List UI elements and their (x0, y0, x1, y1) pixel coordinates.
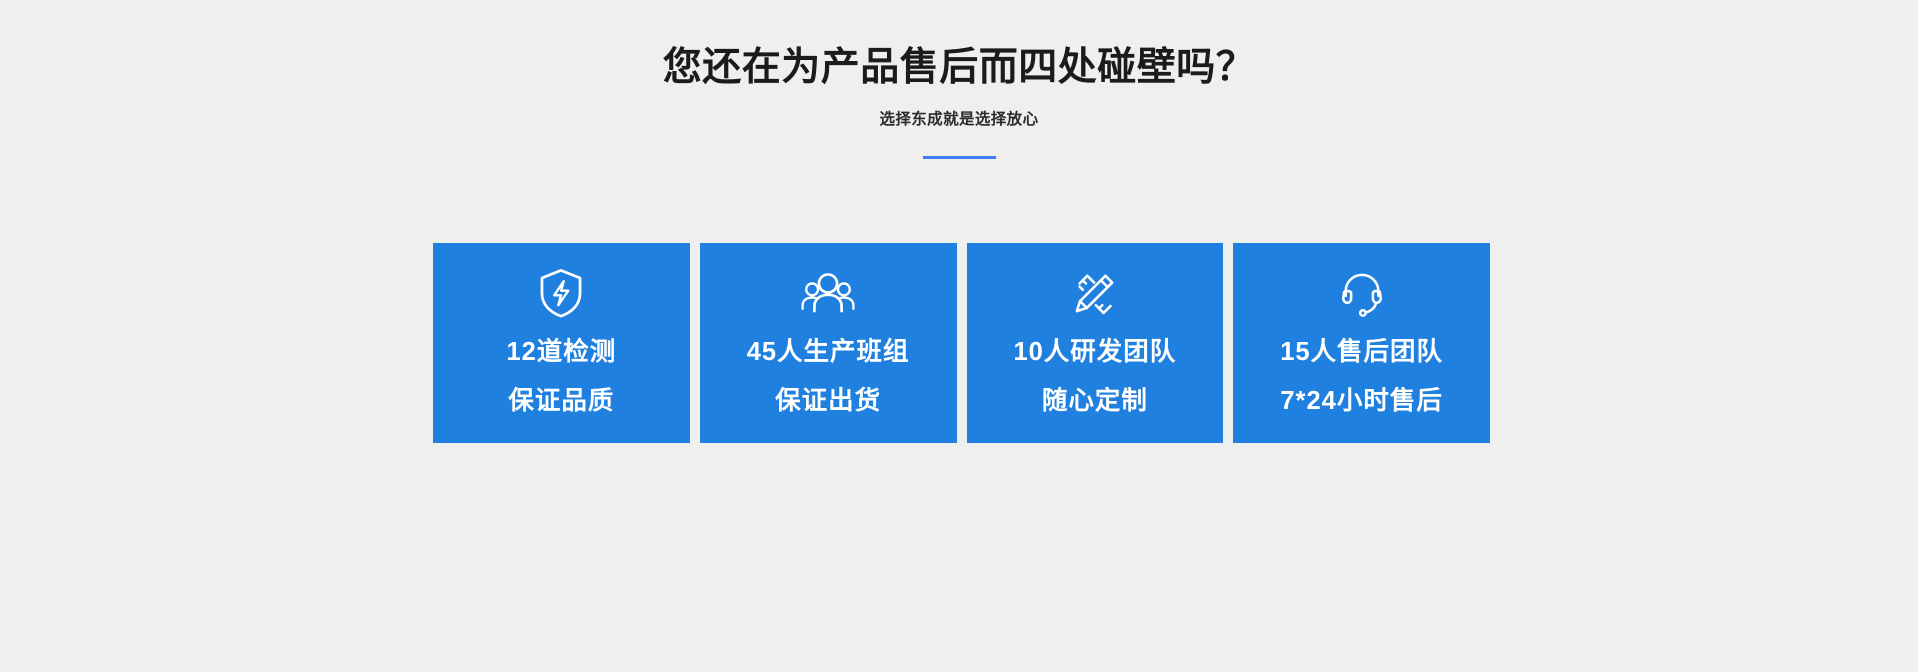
headset-icon (1333, 264, 1391, 322)
heading-block: 您还在为产品售后而四处碰壁吗？ 选择东成就是选择放心 (0, 0, 1918, 159)
feature-card-line1: 12道检测 (506, 340, 616, 366)
feature-card-line1: 10人研发团队 (1013, 340, 1176, 366)
shield-bolt-icon (532, 264, 590, 322)
pencil-ruler-icon (1066, 264, 1124, 322)
feature-card-line1: 45人生产班组 (747, 340, 910, 366)
page-subtitle: 选择东成就是选择放心 (0, 90, 1918, 130)
feature-card-line2: 保证品质 (508, 389, 614, 415)
feature-card-line2: 随心定制 (1042, 389, 1148, 415)
feature-card-rnd[interactable]: 10人研发团队 随心定制 (967, 243, 1224, 443)
feature-cards-row: 12道检测 保证品质 45人生产班组 保证出货 (433, 243, 1490, 443)
divider-bar (923, 156, 996, 159)
promo-section: 您还在为产品售后而四处碰壁吗？ 选择东成就是选择放心 12道检测 保证品质 (0, 0, 1918, 672)
feature-card-line1: 15人售后团队 (1280, 340, 1443, 366)
feature-card-line2: 保证出货 (775, 389, 881, 415)
divider (0, 155, 1918, 159)
feature-card-line2: 7*24小时售后 (1280, 389, 1442, 415)
feature-card-quality[interactable]: 12道检测 保证品质 (433, 243, 690, 443)
feature-card-aftersales[interactable]: 15人售后团队 7*24小时售后 (1233, 243, 1490, 443)
page-title: 您还在为产品售后而四处碰壁吗？ (0, 0, 1918, 90)
feature-card-production[interactable]: 45人生产班组 保证出货 (700, 243, 957, 443)
people-group-icon (799, 264, 857, 322)
